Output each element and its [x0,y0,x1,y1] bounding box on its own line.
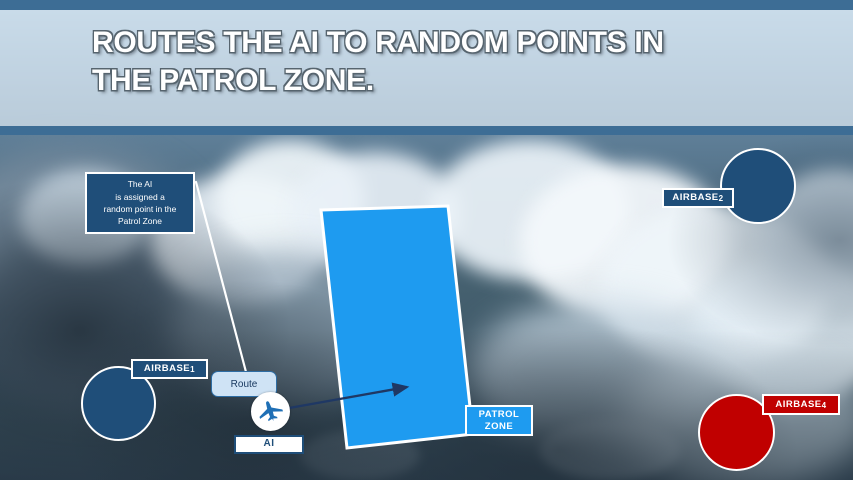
callout-random-point: The AI is assigned a random point in the… [85,172,195,234]
patrol-zone-label[interactable]: PATROL ZONE [465,405,533,436]
bottom-accent-strip [0,126,853,135]
top-accent-strip [0,0,853,10]
airbase-2-number: 2 [719,194,724,204]
page-title: ROUTES THE AI TO RANDOM POINTS IN THE PA… [92,24,792,101]
airbase-4-label-text: AIRBASE [775,399,821,411]
ai-label[interactable]: AI [234,435,304,454]
airbase-1-label[interactable]: AIRBASE 1 [131,359,208,379]
airbase-1-number: 1 [190,365,195,375]
airbase-2-marker[interactable] [720,148,796,224]
airbase-4-number: 4 [822,401,827,411]
presentation-slide: ROUTES THE AI TO RANDOM POINTS IN THE PA… [0,0,853,480]
airbase-1-label-text: AIRBASE [144,363,190,375]
fighter-jet-glyph [257,398,285,426]
fighter-jet-icon[interactable] [251,392,290,431]
airbase-2-label[interactable]: AIRBASE 2 [662,188,734,208]
airbase-2-label-text: AIRBASE [672,192,718,204]
airbase-4-label[interactable]: AIRBASE 4 [762,394,840,415]
